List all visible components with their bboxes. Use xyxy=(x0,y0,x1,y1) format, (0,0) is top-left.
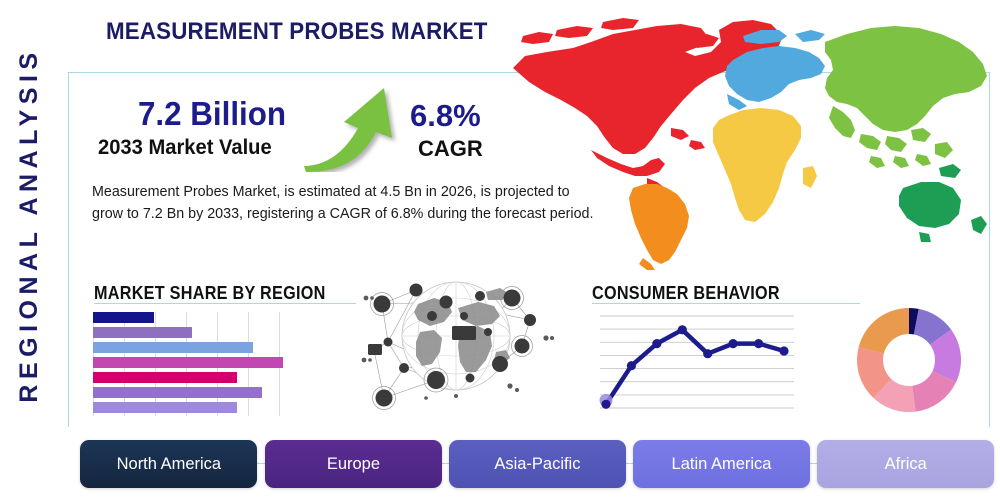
market-value-figure: 7.2 Billion xyxy=(138,95,286,133)
consumer-behavior-heading-rule xyxy=(592,303,860,304)
cagr-figure: 6.8% xyxy=(410,98,481,134)
consumer-behavior-line-chart xyxy=(598,308,798,418)
market-share-heading-rule xyxy=(94,303,356,304)
page-title: MEASUREMENT PROBES MARKET xyxy=(106,18,488,46)
market-share-heading: MARKET SHARE BY REGION xyxy=(94,283,326,304)
region-tab-label: Africa xyxy=(884,454,926,474)
segment-donut-chart xyxy=(857,308,961,412)
region-tab-north-america[interactable]: North America xyxy=(80,440,257,488)
table-row xyxy=(93,372,237,383)
region-tab-label: North America xyxy=(116,454,220,474)
region-tabs[interactable]: North America Europe Asia-Pacific Latin … xyxy=(80,440,990,490)
table-row xyxy=(93,342,253,353)
table-row xyxy=(93,327,192,338)
table-row xyxy=(93,312,154,323)
market-value-caption: 2033 Market Value xyxy=(98,136,272,160)
region-tab-europe[interactable]: Europe xyxy=(265,440,442,488)
cagr-caption: CAGR xyxy=(418,136,483,162)
region-tab-label: Asia-Pacific xyxy=(494,454,580,474)
region-tab-label: Europe xyxy=(327,454,380,474)
table-row xyxy=(93,357,283,368)
market-share-bar-chart xyxy=(93,312,283,416)
world-map-graphic xyxy=(495,8,995,270)
global-network-graphic xyxy=(360,268,560,420)
up-trend-arrow-icon xyxy=(300,82,410,172)
region-tab-label: Latin America xyxy=(672,454,772,474)
region-tab-latin-america[interactable]: Latin America xyxy=(633,440,810,488)
consumer-behavior-heading: CONSUMER BEHAVIOR xyxy=(592,283,780,304)
region-tab-asia-pacific[interactable]: Asia-Pacific xyxy=(449,440,626,488)
vertical-section-label: REGIONAL ANALYSIS xyxy=(9,15,49,435)
infographic-root: REGIONAL ANALYSIS MEASUREMENT PROBES MAR… xyxy=(0,0,1000,500)
table-row xyxy=(93,387,262,398)
region-tab-africa[interactable]: Africa xyxy=(817,440,994,488)
table-row xyxy=(93,402,237,413)
